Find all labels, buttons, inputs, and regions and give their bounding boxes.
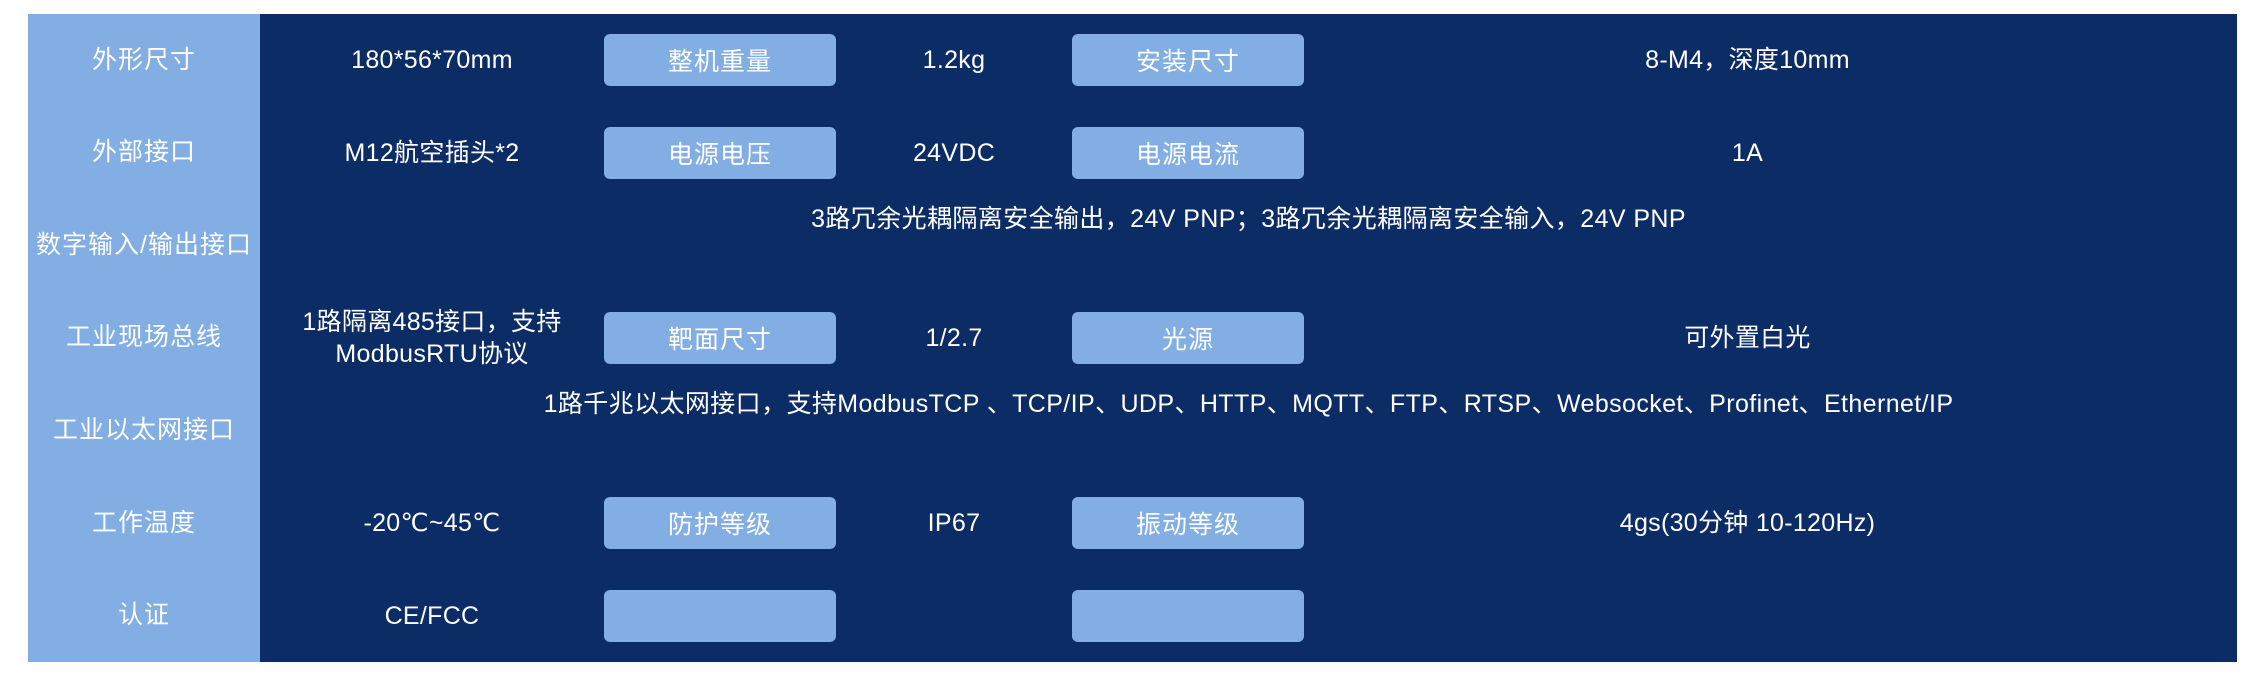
row-label-外形尺寸: 外形尺寸 <box>28 14 260 107</box>
pill-cell: 防护等级 <box>604 477 836 570</box>
table-row: 数字输入/输出接口 3路冗余光耦隔离安全输出，24V PNP；3路冗余光耦隔离安… <box>28 199 2237 292</box>
pill-cell: 电源电压 <box>604 107 836 200</box>
value-cell: 4gs(30分钟 10-120Hz) <box>1304 477 2191 570</box>
value-cell: 180*56*70mm <box>260 14 604 107</box>
table-row: 工业现场总线 1路隔离485接口，支持ModbusRTU协议 靶面尺寸 1/2.… <box>28 292 2237 385</box>
pill-label-电源电流: 电源电流 <box>1072 127 1304 179</box>
value-text: 1路隔离485接口，支持ModbusRTU协议 <box>260 306 604 371</box>
row-body: CE/FCC <box>260 569 2237 662</box>
value-cell: 1路隔离485接口，支持ModbusRTU协议 <box>260 292 604 385</box>
row-label-认证: 认证 <box>28 569 260 662</box>
pill-label-光源: 光源 <box>1072 312 1304 364</box>
pill-label-振动等级: 振动等级 <box>1072 497 1304 549</box>
pill-label-电源电压: 电源电压 <box>604 127 836 179</box>
pill-cell: 靶面尺寸 <box>604 292 836 385</box>
pill-cell: 安装尺寸 <box>1072 14 1304 107</box>
value-text: -20℃~45℃ <box>353 507 510 540</box>
table-row: 外形尺寸 180*56*70mm 整机重量 1.2kg 安装尺寸 8-M4，深度… <box>28 14 2237 107</box>
pill-cell: 整机重量 <box>604 14 836 107</box>
table-row: 外部接口 M12航空插头*2 电源电压 24VDC 电源电流 1A <box>28 107 2237 200</box>
pill-cell: 光源 <box>1072 292 1304 385</box>
value-text: 1路千兆以太网接口，支持ModbusTCP 、TCP/IP、UDP、HTTP、M… <box>544 384 1954 477</box>
value-cell: 可外置白光 <box>1304 292 2191 385</box>
pill-label-empty-2 <box>1072 590 1304 642</box>
value-text: 180*56*70mm <box>341 44 523 77</box>
value-cell: 24VDC <box>836 107 1072 200</box>
value-text: M12航空插头*2 <box>335 137 530 170</box>
table-row: 工业以太网接口 1路千兆以太网接口，支持ModbusTCP 、TCP/IP、UD… <box>28 384 2237 477</box>
value-cell: 1/2.7 <box>836 292 1072 385</box>
pill-cell: 电源电流 <box>1072 107 1304 200</box>
row-body: M12航空插头*2 电源电压 24VDC 电源电流 1A <box>260 107 2237 200</box>
row-end-spacer <box>2191 477 2237 570</box>
specification-table-page: 外形尺寸 180*56*70mm 整机重量 1.2kg 安装尺寸 8-M4，深度… <box>0 0 2265 675</box>
row-body-span: 1路千兆以太网接口，支持ModbusTCP 、TCP/IP、UDP、HTTP、M… <box>260 384 2237 477</box>
row-end-spacer <box>2191 107 2237 200</box>
pill-cell <box>1072 569 1304 662</box>
value-cell: IP67 <box>836 477 1072 570</box>
row-label-工业现场总线: 工业现场总线 <box>28 292 260 385</box>
pill-label-安装尺寸: 安装尺寸 <box>1072 34 1304 86</box>
row-body: 1路隔离485接口，支持ModbusRTU协议 靶面尺寸 1/2.7 光源 可外… <box>260 292 2237 385</box>
value-text: 24VDC <box>903 137 1005 170</box>
pill-cell: 振动等级 <box>1072 477 1304 570</box>
value-cell <box>1304 569 2191 662</box>
row-body: 180*56*70mm 整机重量 1.2kg 安装尺寸 8-M4，深度10mm <box>260 14 2237 107</box>
pill-label-整机重量: 整机重量 <box>604 34 836 86</box>
value-cell: CE/FCC <box>260 569 604 662</box>
pill-label-靶面尺寸: 靶面尺寸 <box>604 312 836 364</box>
value-text: 1/2.7 <box>915 322 992 355</box>
value-cell: 8-M4，深度10mm <box>1304 14 2191 107</box>
row-end-spacer <box>2191 292 2237 385</box>
row-label-外部接口: 外部接口 <box>28 107 260 200</box>
specification-table: 外形尺寸 180*56*70mm 整机重量 1.2kg 安装尺寸 8-M4，深度… <box>28 14 2237 662</box>
value-cell: -20℃~45℃ <box>260 477 604 570</box>
value-cell: 1.2kg <box>836 14 1072 107</box>
value-text: CE/FCC <box>375 600 490 633</box>
value-text: 3路冗余光耦隔离安全输出，24V PNP；3路冗余光耦隔离安全输入，24V PN… <box>811 199 1686 292</box>
row-label-工作温度: 工作温度 <box>28 477 260 570</box>
value-text: 1.2kg <box>913 44 996 77</box>
row-body-span: 3路冗余光耦隔离安全输出，24V PNP；3路冗余光耦隔离安全输入，24V PN… <box>260 199 2237 292</box>
row-label-工业以太网接口: 工业以太网接口 <box>28 384 260 477</box>
table-row: 工作温度 -20℃~45℃ 防护等级 IP67 振动等级 4gs(30分钟 10… <box>28 477 2237 570</box>
pill-label-防护等级: 防护等级 <box>604 497 836 549</box>
table-row: 认证 CE/FCC <box>28 569 2237 662</box>
value-text: 1A <box>1722 137 1773 170</box>
value-text: 8-M4，深度10mm <box>1635 44 1860 77</box>
pill-cell <box>604 569 836 662</box>
row-label-数字输入输出接口: 数字输入/输出接口 <box>28 199 260 292</box>
value-text: IP67 <box>918 507 991 540</box>
value-text: 4gs(30分钟 10-120Hz) <box>1610 507 1886 540</box>
value-cell <box>836 569 1072 662</box>
pill-label-empty-1 <box>604 590 836 642</box>
row-end-spacer <box>2191 569 2237 662</box>
value-cell: M12航空插头*2 <box>260 107 604 200</box>
row-body: -20℃~45℃ 防护等级 IP67 振动等级 4gs(30分钟 10-120H… <box>260 477 2237 570</box>
row-end-spacer <box>2191 14 2237 107</box>
value-cell: 1A <box>1304 107 2191 200</box>
value-text: 可外置白光 <box>1674 322 1821 355</box>
